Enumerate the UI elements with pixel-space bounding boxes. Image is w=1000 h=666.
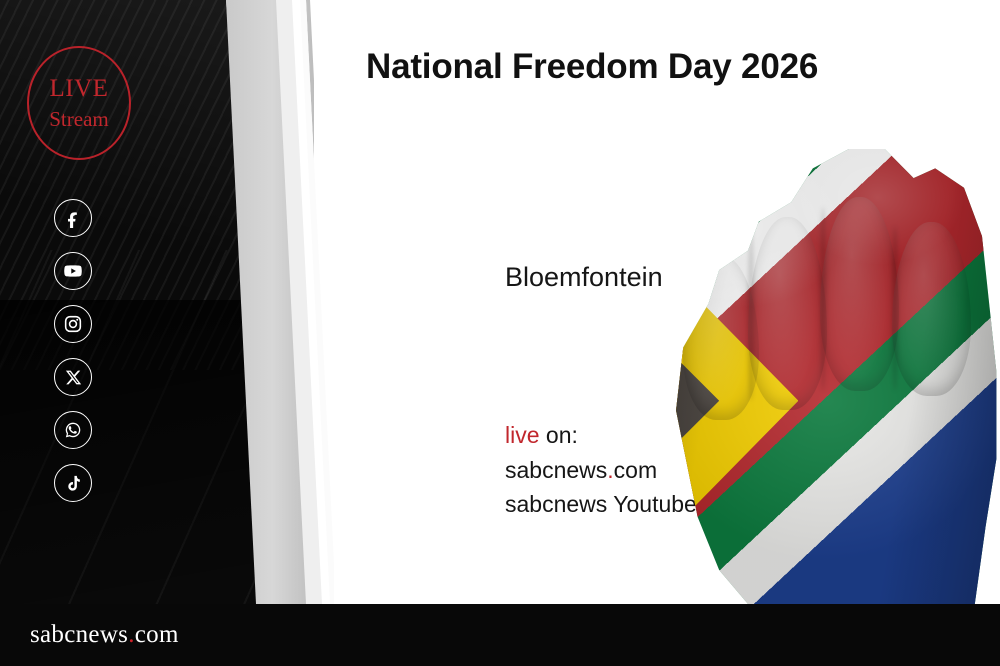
- live-word: live: [505, 422, 540, 448]
- x-icon[interactable]: [54, 358, 92, 396]
- facebook-icon[interactable]: [54, 199, 92, 237]
- website-name: sabcnews: [505, 457, 607, 483]
- footer-url-name: sabcnews: [30, 621, 128, 648]
- tiktok-icon[interactable]: [54, 464, 92, 502]
- city-label: Bloemfontein: [505, 262, 663, 293]
- youtube-icon[interactable]: [54, 252, 92, 290]
- social-icon-list: [54, 199, 92, 502]
- fist-image: [640, 120, 1000, 604]
- live-stream-badge: LIVE Stream: [27, 46, 131, 160]
- whatsapp-icon[interactable]: [54, 411, 92, 449]
- live-badge-line2: Stream: [49, 108, 108, 130]
- fist-shading: [640, 120, 1000, 604]
- footer-bar: sabcnews.com SABC NEWS Independent. Impa…: [0, 604, 1000, 666]
- broadcast-promo-graphic: LIVE Stream: [0, 0, 1000, 666]
- live-badge-line1: LIVE: [50, 76, 109, 102]
- fist-silhouette: [640, 120, 1000, 604]
- footer-url-tld: com: [135, 621, 179, 648]
- instagram-icon[interactable]: [54, 305, 92, 343]
- page-title: National Freedom Day 2026: [366, 47, 818, 87]
- on-word: on:: [540, 422, 578, 448]
- footer-website-url: sabcnews.com: [30, 621, 179, 649]
